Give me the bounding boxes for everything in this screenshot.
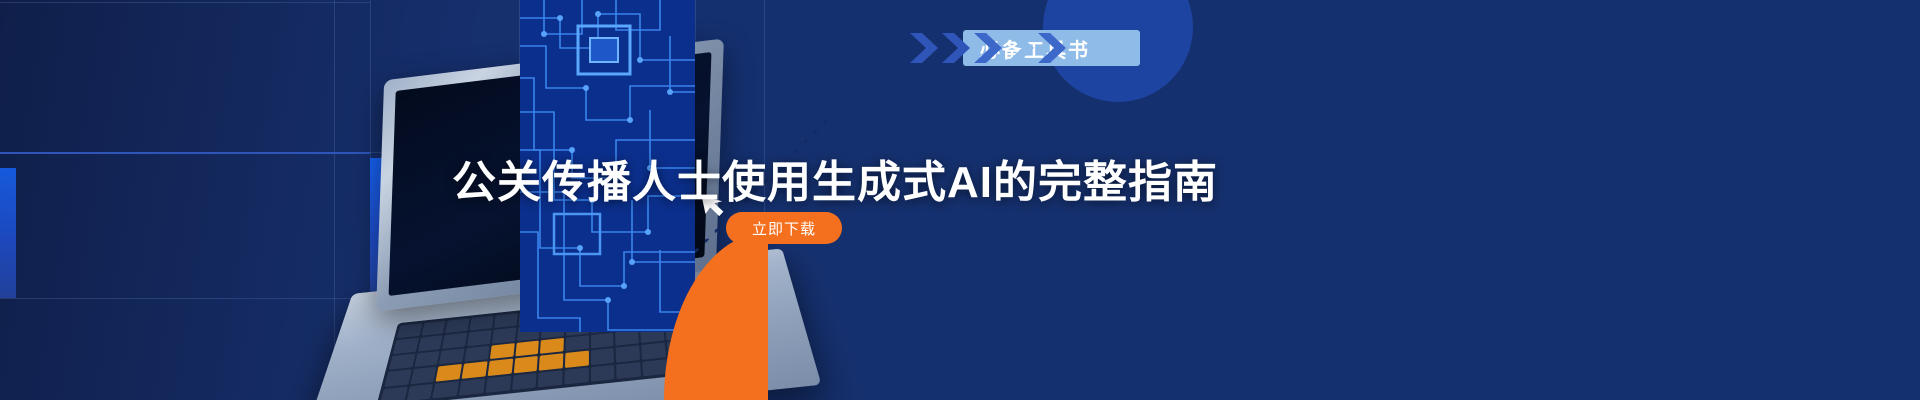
page-title: 公关传播人士使用生成式AI的完整指南 [452, 146, 1218, 210]
download-button[interactable]: 立即下载 [726, 212, 842, 244]
chevron-group [908, 30, 1146, 66]
decor-blue-edge [0, 168, 16, 298]
promo-banner: 公关传播人士使用生成式AI的完整指南 立即下载 必备工具书 [0, 0, 1920, 400]
grid-line-horizontal [0, 2, 370, 3]
decor-blue-stripe [0, 152, 370, 154]
chevron-right-icon [908, 30, 1146, 66]
